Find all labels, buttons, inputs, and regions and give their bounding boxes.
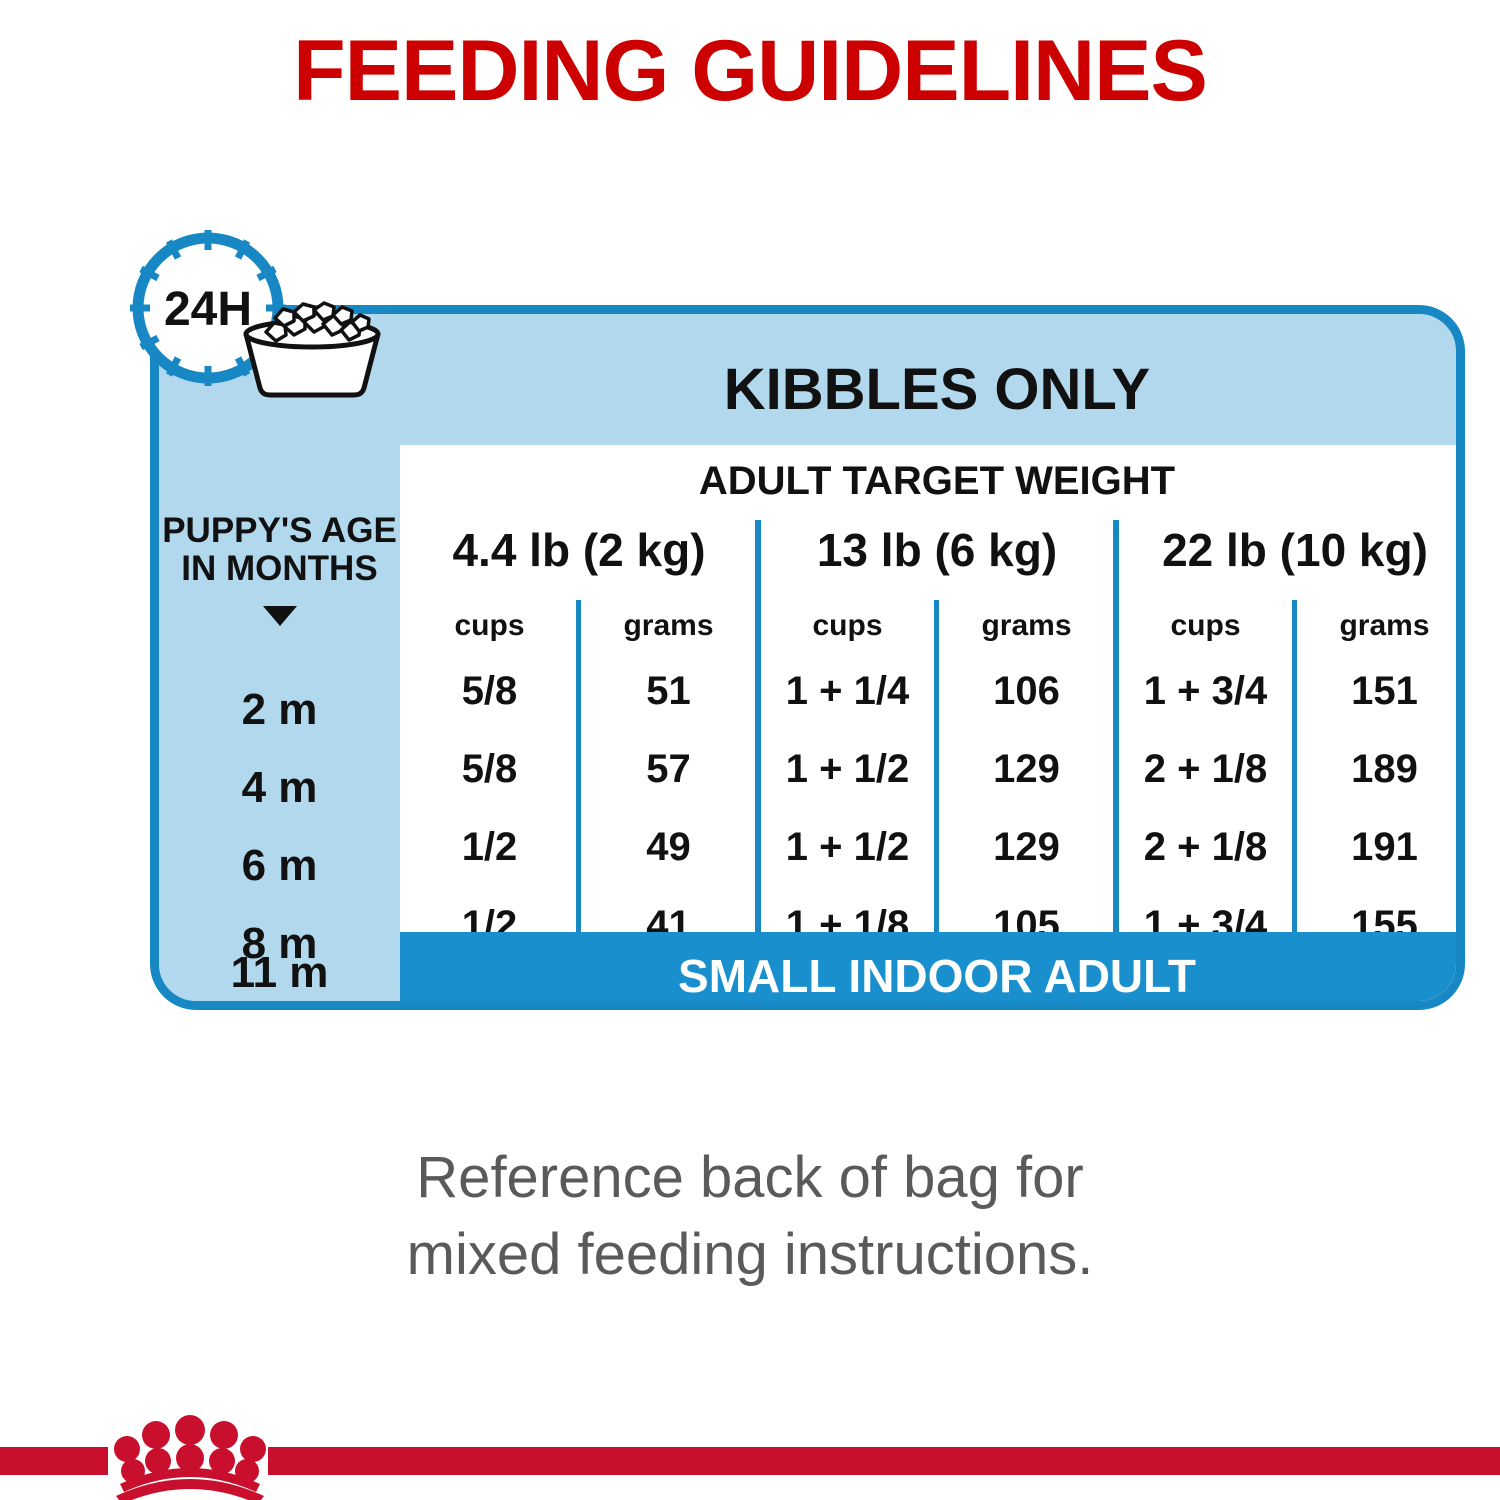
logo-bar-right-segment [268,1447,1500,1475]
small-indoor-adult-banner: SMALL INDOOR ADULT [400,932,1465,1010]
puppy-age-header-line1: PUPPY'S AGE [159,512,400,550]
unit-label-4: cups [1116,609,1295,643]
age-cell-2: 6 m [159,841,400,891]
down-arrow-icon [263,606,297,626]
puppy-age-header-line2: IN MONTHS [159,550,400,588]
logo-bar-left-segment [0,1447,108,1475]
unit-label-3: grams [937,609,1116,643]
unit-label-1: grams [579,609,758,643]
table-cell-r2c3: 129 [937,825,1116,870]
royal-canin-crown-icon [100,1412,280,1500]
table-cell-r2c5: 191 [1295,825,1465,870]
table-cell-r2c0: 1/2 [400,825,579,870]
table-cell-r1c2: 1 + 1/2 [758,747,937,792]
table-cell-r1c0: 5/8 [400,747,579,792]
table-cell-r0c2: 1 + 1/4 [758,669,937,714]
puppy-age-header: PUPPY'S AGE IN MONTHS [159,512,400,588]
group-divider-0 [755,520,761,943]
adult-target-weight-header: ADULT TARGET WEIGHT [400,459,1465,504]
table-cell-r1c3: 129 [937,747,1116,792]
weight-group-2: 22 lb (10 kg) [1116,523,1465,577]
page-title: FEEDING GUIDELINES [0,22,1500,121]
puppy-age-column: PUPPY'S AGE IN MONTHS 2 m 4 m 6 m 8 m 11… [159,314,400,1010]
footer-line-1: Reference back of bag for [0,1140,1500,1217]
unit-label-0: cups [400,609,579,643]
table-cell-r2c4: 2 + 1/8 [1116,825,1295,870]
banner-label: SMALL INDOOR ADULT [678,949,1196,1003]
kibbles-only-header: KIBBLES ONLY [400,334,1465,445]
table-cell-r1c1: 57 [579,747,758,792]
brand-logo-bar [0,1402,1500,1500]
kibble-bowl-icon [222,300,402,400]
feeding-table: ADULT TARGET WEIGHT 4.4 lb (2 kg) 13 lb … [400,445,1465,1010]
unit-label-2: cups [758,609,937,643]
feeding-table-panel: PUPPY'S AGE IN MONTHS 2 m 4 m 6 m 8 m 11… [150,305,1465,1010]
age-cell-1: 4 m [159,763,400,813]
table-cell-r2c1: 49 [579,825,758,870]
table-cell-r0c3: 106 [937,669,1116,714]
group-divider-1 [1113,520,1119,943]
age-cell-4: 11 m [159,948,400,998]
age-cell-0: 2 m [159,685,400,735]
table-cell-r0c0: 5/8 [400,669,579,714]
table-cell-r0c1: 51 [579,669,758,714]
table-cell-r1c4: 2 + 1/8 [1116,747,1295,792]
table-cell-r2c2: 1 + 1/2 [758,825,937,870]
footer-note: Reference back of bag for mixed feeding … [0,1140,1500,1293]
footer-line-2: mixed feeding instructions. [0,1217,1500,1294]
weight-group-0: 4.4 lb (2 kg) [400,523,758,577]
weight-group-1: 13 lb (6 kg) [758,523,1116,577]
table-cell-r0c5: 151 [1295,669,1465,714]
unit-label-5: grams [1295,609,1465,643]
table-cell-r0c4: 1 + 3/4 [1116,669,1295,714]
table-cell-r1c5: 189 [1295,747,1465,792]
